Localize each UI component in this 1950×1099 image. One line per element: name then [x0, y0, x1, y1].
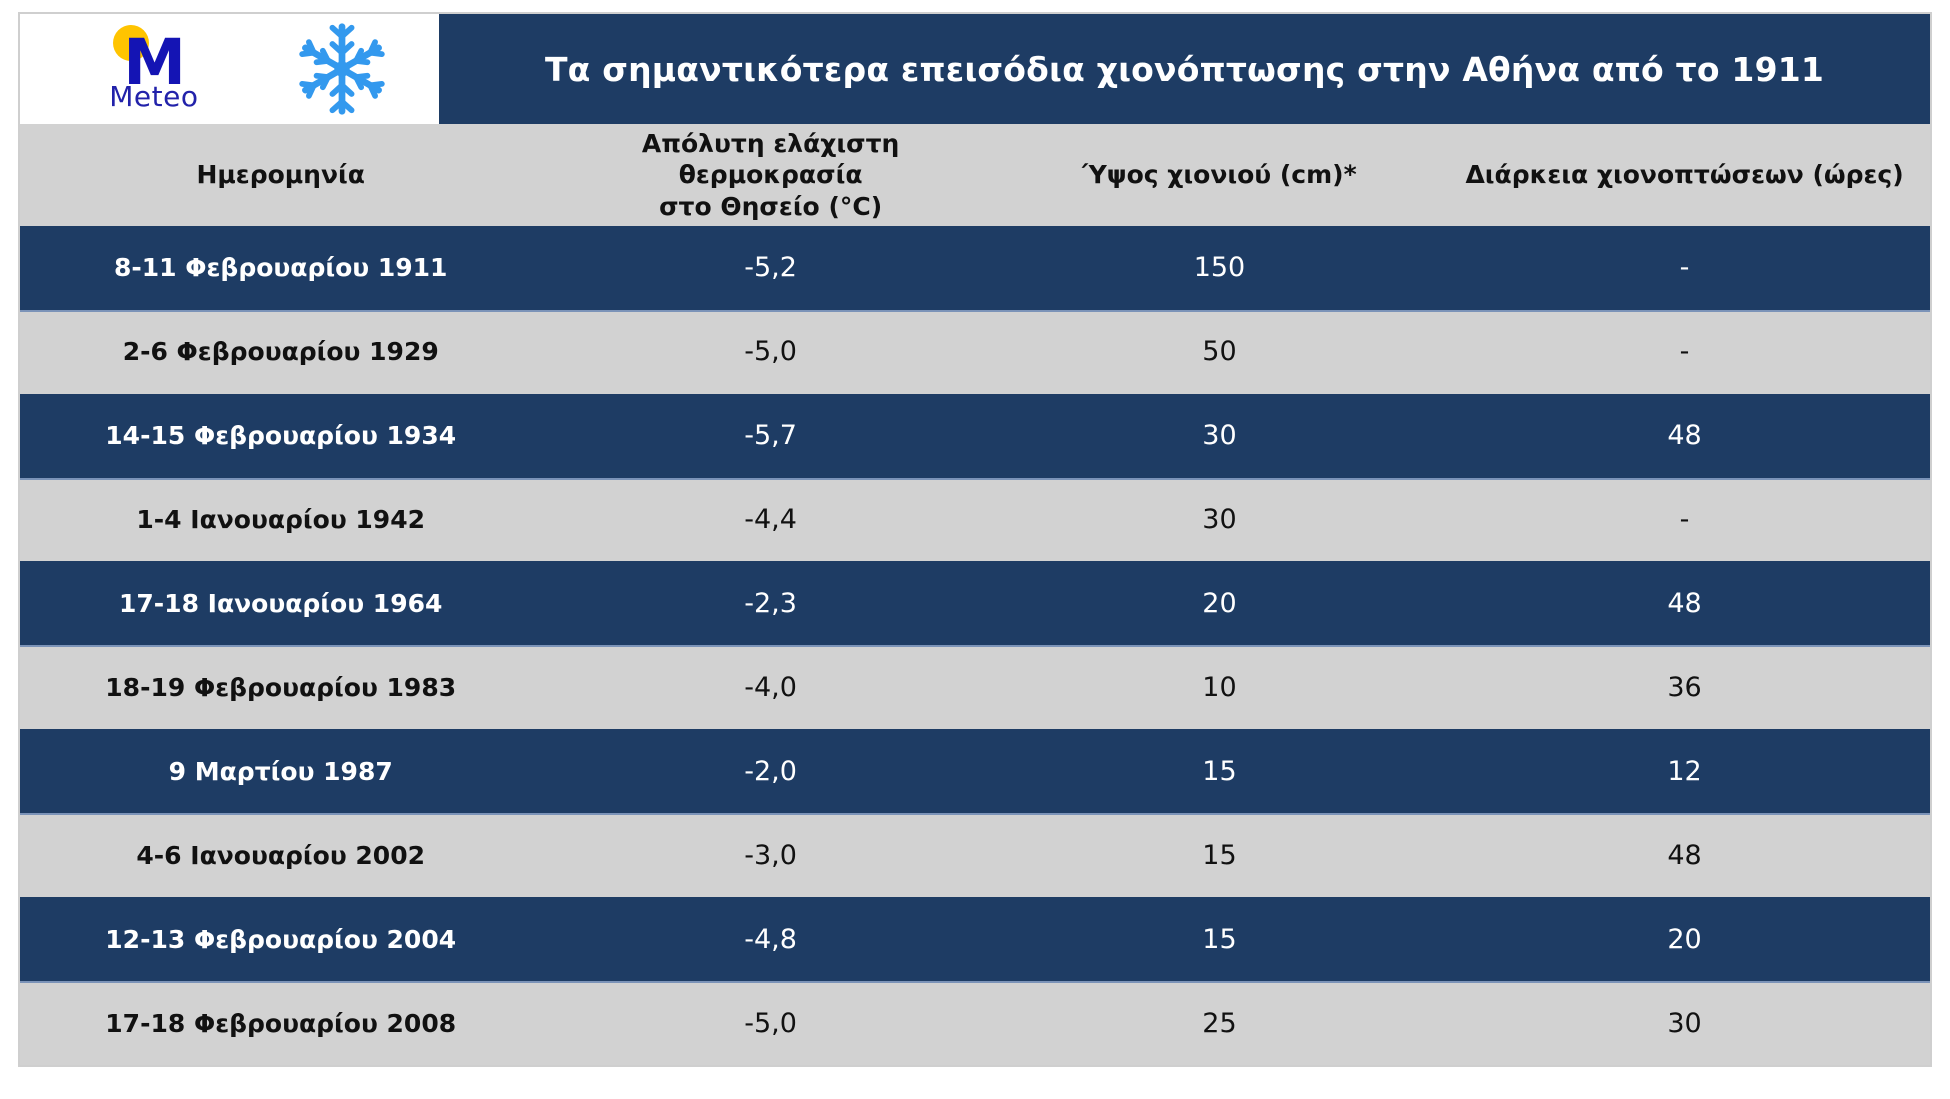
column-header-temperature: Απόλυτη ελάχιστη θερμοκρασία στο Θησείο … — [541, 124, 999, 226]
snow-depth-cell: 20 — [1000, 561, 1439, 645]
min-temperature-cell: -5,0 — [541, 310, 999, 394]
event-date-cell: 8-11 Φεβρουαρίου 1911 — [20, 226, 541, 310]
table-header-row: Ημερομηνία Απόλυτη ελάχιστη θερμοκρασία … — [20, 124, 1930, 226]
meteo-logo: M Meteo — [97, 21, 247, 117]
min-temperature-cell: -2,3 — [541, 561, 999, 645]
snow-depth-cell: 30 — [1000, 394, 1439, 478]
infographic-card: M Meteo — [18, 12, 1932, 1067]
snow-depth-cell: 150 — [1000, 226, 1439, 310]
snow-depth-cell: 50 — [1000, 310, 1439, 394]
snow-depth-cell: 15 — [1000, 897, 1439, 981]
min-temperature-cell: -5,2 — [541, 226, 999, 310]
table-row: 8-11 Φεβρουαρίου 1911-5,2150- — [20, 226, 1930, 310]
header-band: M Meteo — [20, 14, 1930, 124]
min-temperature-cell: -4,8 — [541, 897, 999, 981]
event-date-cell: 2-6 Φεβρουαρίου 1929 — [20, 310, 541, 394]
snowflake-icon — [294, 21, 390, 117]
logo-wordmark: Meteo — [109, 83, 198, 111]
table-row: 2-6 Φεβρουαρίου 1929-5,050- — [20, 310, 1930, 394]
snow-depth-cell: 15 — [1000, 813, 1439, 897]
snow-depth-cell: 10 — [1000, 645, 1439, 729]
snowfall-duration-cell: 20 — [1439, 897, 1930, 981]
table-row: 14-15 Φεβρουαρίου 1934-5,73048 — [20, 394, 1930, 478]
column-header-duration: Διάρκεια χιονοπτώσεων (ώρες) — [1439, 124, 1930, 226]
page-title: Τα σημαντικότερα επεισόδια χιονόπτωσης σ… — [545, 50, 1824, 89]
snow-depth-cell: 25 — [1000, 981, 1439, 1065]
min-temperature-cell: -4,0 — [541, 645, 999, 729]
table-row: 17-18 Ιανουαρίου 1964-2,32048 — [20, 561, 1930, 645]
table-header: Ημερομηνία Απόλυτη ελάχιστη θερμοκρασία … — [20, 124, 1930, 226]
snowfall-duration-cell: 48 — [1439, 561, 1930, 645]
snow-depth-cell: 30 — [1000, 478, 1439, 562]
snowfall-duration-cell: 12 — [1439, 729, 1930, 813]
snowfall-duration-cell: 30 — [1439, 981, 1930, 1065]
min-temperature-cell: -5,7 — [541, 394, 999, 478]
event-date-cell: 12-13 Φεβρουαρίου 2004 — [20, 897, 541, 981]
min-temperature-cell: -2,0 — [541, 729, 999, 813]
title-banner: Τα σημαντικότερα επεισόδια χιονόπτωσης σ… — [439, 14, 1930, 124]
event-date-cell: 4-6 Ιανουαρίου 2002 — [20, 813, 541, 897]
table-body: 8-11 Φεβρουαρίου 1911-5,2150-2-6 Φεβρουα… — [20, 226, 1930, 1065]
snowfall-duration-cell: - — [1439, 478, 1930, 562]
event-date-cell: 17-18 Φεβρουαρίου 2008 — [20, 981, 541, 1065]
min-temperature-cell: -3,0 — [541, 813, 999, 897]
event-date-cell: 1-4 Ιανουαρίου 1942 — [20, 478, 541, 562]
table-row: 1-4 Ιανουαρίου 1942-4,430- — [20, 478, 1930, 562]
table-row: 12-13 Φεβρουαρίου 2004-4,81520 — [20, 897, 1930, 981]
snowfall-duration-cell: 36 — [1439, 645, 1930, 729]
snowflake-zone — [282, 21, 402, 117]
column-header-snow-depth: Ύψος χιονιού (cm)* — [1000, 124, 1439, 226]
snowfall-events-table: Ημερομηνία Απόλυτη ελάχιστη θερμοκρασία … — [20, 124, 1930, 1065]
event-date-cell: 18-19 Φεβρουαρίου 1983 — [20, 645, 541, 729]
snowfall-duration-cell: - — [1439, 310, 1930, 394]
column-header-date: Ημερομηνία — [20, 124, 541, 226]
brand-zone: M Meteo — [20, 14, 439, 124]
event-date-cell: 17-18 Ιανουαρίου 1964 — [20, 561, 541, 645]
snowfall-duration-cell: 48 — [1439, 813, 1930, 897]
snow-depth-cell: 15 — [1000, 729, 1439, 813]
table-row: 18-19 Φεβρουαρίου 1983-4,01036 — [20, 645, 1930, 729]
snowfall-duration-cell: 48 — [1439, 394, 1930, 478]
table-row: 9 Μαρτίου 1987-2,01512 — [20, 729, 1930, 813]
event-date-cell: 14-15 Φεβρουαρίου 1934 — [20, 394, 541, 478]
min-temperature-cell: -4,4 — [541, 478, 999, 562]
event-date-cell: 9 Μαρτίου 1987 — [20, 729, 541, 813]
snowfall-duration-cell: - — [1439, 226, 1930, 310]
min-temperature-cell: -5,0 — [541, 981, 999, 1065]
table-row: 4-6 Ιανουαρίου 2002-3,01548 — [20, 813, 1930, 897]
table-row: 17-18 Φεβρουαρίου 2008-5,02530 — [20, 981, 1930, 1065]
